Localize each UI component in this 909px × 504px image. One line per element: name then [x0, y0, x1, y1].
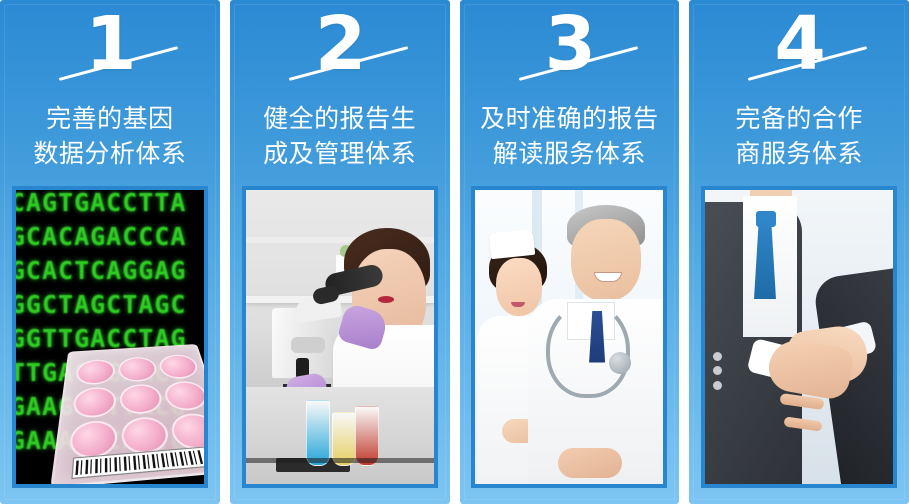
card-title-line-2: 数据分析体系 [9, 137, 211, 170]
card-title-line-1: 完备的合作 [698, 102, 900, 135]
card-number: 3 [460, 4, 680, 84]
test-tube-red [355, 406, 379, 466]
card-title-line-2: 解读服务体系 [468, 137, 670, 170]
card-title-line-1: 健全的报告生 [239, 102, 441, 135]
doctor-and-nurse-photo [471, 186, 667, 488]
dna-line: GCACTCAGGAG [16, 256, 187, 285]
dna-line: GGCTAGCTAGC [16, 290, 187, 319]
feature-card-1[interactable]: 1 完善的基因 数据分析体系 CAGTGACCTTA GCACAGACCCA G… [0, 0, 220, 504]
card-title-line-2: 成及管理体系 [239, 137, 441, 170]
card-number-area: 3 [460, 0, 680, 100]
feature-card-4[interactable]: 4 完备的合作 商服务体系 [689, 0, 909, 504]
dna-sequence-and-well-plate-photo: CAGTGACCTTA GCACAGACCCA GCACTCAGGAG GGCT… [12, 186, 208, 488]
feature-card-2[interactable]: 2 健全的报告生 成及管理体系 [230, 0, 450, 504]
dna-line: GCACAGACCCA [16, 222, 187, 251]
card-number: 4 [689, 4, 909, 84]
stethoscope-bell [609, 352, 631, 374]
doctor-face [571, 219, 641, 301]
suit-button [713, 352, 722, 361]
test-tube-blue [306, 400, 330, 466]
dna-line: CAGTGACCTTA [16, 190, 187, 217]
cell-culture-plate [50, 344, 204, 484]
stethoscope-tubing [546, 302, 630, 398]
scientist-microscope-photo [242, 186, 438, 488]
card-number-area: 2 [230, 0, 450, 100]
nurse-cap [489, 229, 535, 259]
card-number: 2 [230, 4, 450, 84]
feature-card-3[interactable]: 3 及时准确的报告 解读服务体系 [460, 0, 680, 504]
feature-cards-board: 1 完善的基因 数据分析体系 CAGTGACCTTA GCACAGACCCA G… [0, 0, 909, 504]
card-number-area: 4 [689, 0, 909, 100]
nurse-smile [511, 302, 525, 307]
suit-button [713, 381, 722, 390]
microscope-nosepiece [291, 337, 325, 353]
card-title-line-1: 及时准确的报告 [468, 102, 670, 135]
lab-bench-edge [246, 458, 434, 463]
doctor-hands [558, 448, 622, 478]
card-title-line-1: 完善的基因 [9, 102, 211, 135]
card-title-line-2: 商服务体系 [698, 137, 900, 170]
suit-button [713, 366, 722, 375]
business-handshake-photo [701, 186, 897, 488]
nurse-face [496, 258, 542, 316]
card-number-area: 1 [0, 0, 220, 100]
scientist-lips [378, 296, 394, 303]
card-number: 1 [0, 4, 220, 84]
